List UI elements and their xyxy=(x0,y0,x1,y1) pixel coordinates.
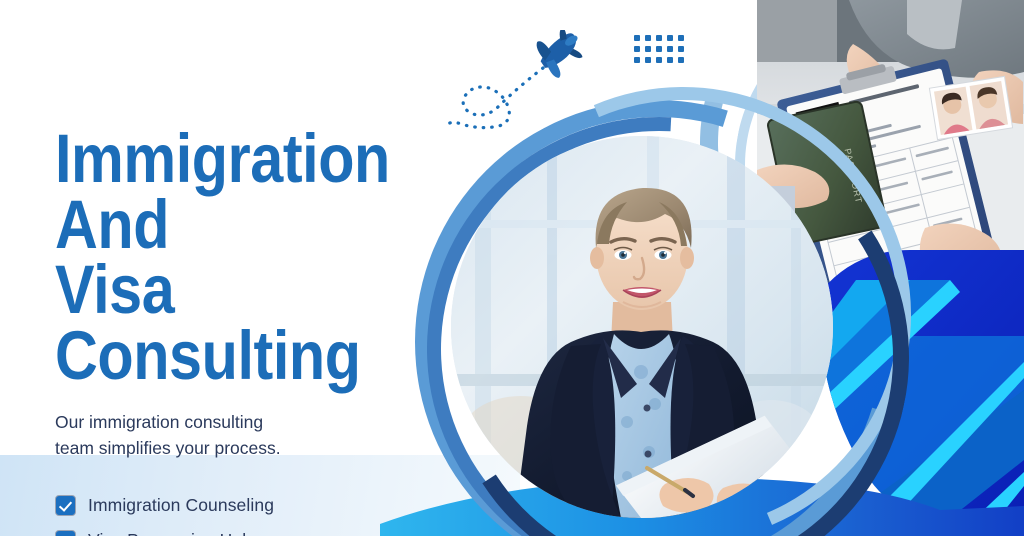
grid-dot xyxy=(678,46,684,52)
feature-label: Immigration Counseling xyxy=(88,495,274,516)
checkbox-checked-icon xyxy=(55,495,76,516)
dot-grid-decoration xyxy=(634,35,689,68)
grid-dot xyxy=(645,57,651,63)
checkbox-checked-icon xyxy=(55,530,76,536)
subtitle-text: Our immigration consulting team simplifi… xyxy=(55,410,355,461)
grid-dot xyxy=(634,35,640,41)
text-content-column: Immigration And Visa Consulting Our immi… xyxy=(55,126,455,536)
immigration-visa-banner: PASSPORT xyxy=(0,0,1024,536)
airplane-icon xyxy=(443,30,593,140)
grid-dot xyxy=(678,57,684,63)
list-item: Visa Processing Help xyxy=(55,530,455,536)
feature-list: Immigration Counseling Visa Processing H… xyxy=(55,495,455,536)
grid-dot xyxy=(667,35,673,41)
grid-dot xyxy=(678,35,684,41)
page-title: Immigration And Visa Consulting xyxy=(55,126,399,388)
grid-dot xyxy=(656,35,662,41)
grid-dot xyxy=(634,57,640,63)
circle-ring-navy xyxy=(402,82,952,536)
grid-dot xyxy=(667,57,673,63)
grid-dot xyxy=(667,46,673,52)
grid-dot xyxy=(645,35,651,41)
list-item: Immigration Counseling xyxy=(55,495,455,516)
grid-dot xyxy=(634,46,640,52)
grid-dot xyxy=(656,57,662,63)
airplane-body xyxy=(531,30,591,81)
grid-dot xyxy=(656,46,662,52)
grid-dot xyxy=(645,46,651,52)
feature-label: Visa Processing Help xyxy=(88,530,256,536)
portrait-circle-group xyxy=(415,95,885,536)
airplane-trail xyxy=(445,68,543,128)
